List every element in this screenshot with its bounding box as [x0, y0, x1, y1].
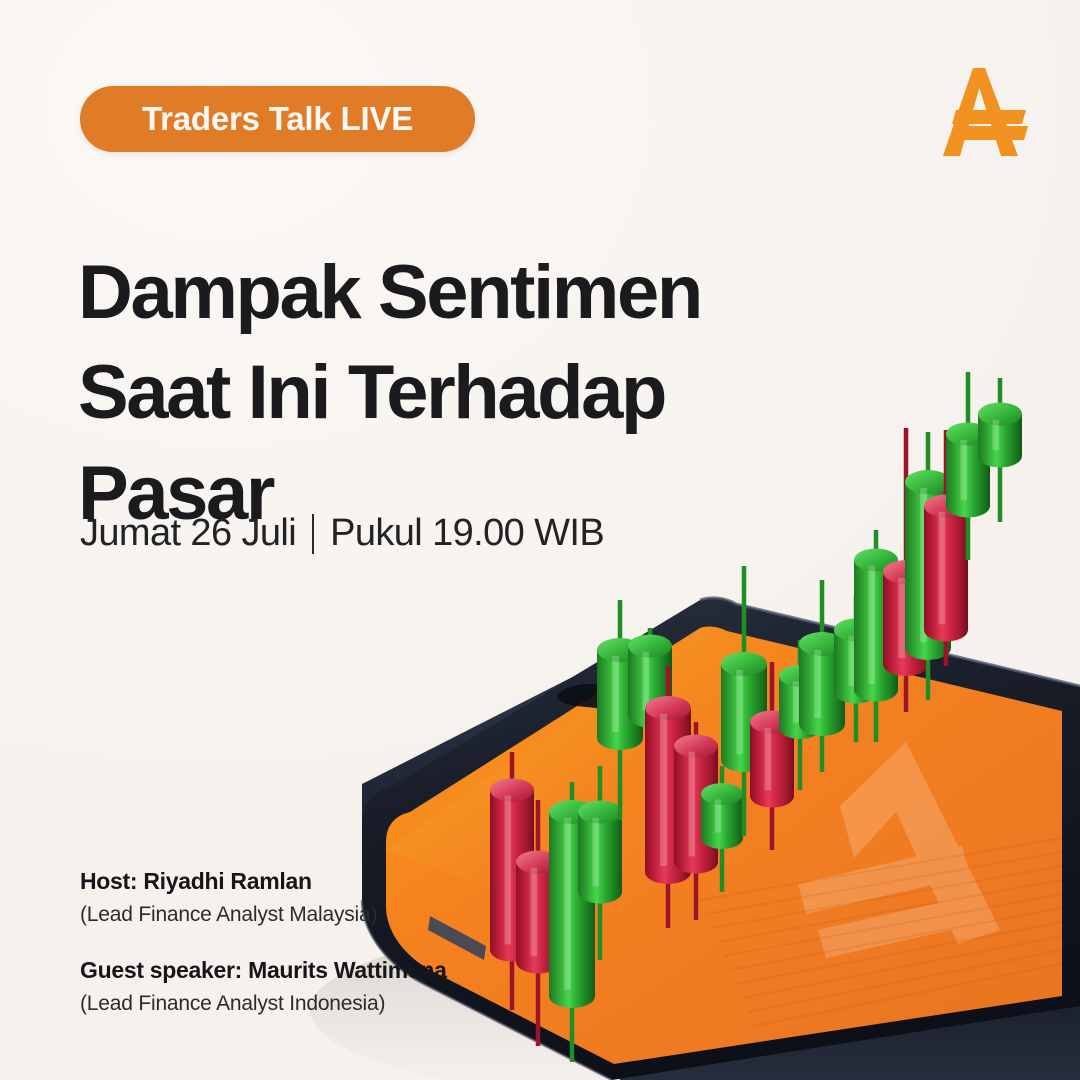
speaker-credits: Host: Riyadhi Ramlan (Lead Finance Analy… — [80, 866, 447, 1045]
host-role: (Lead Finance Analyst Malaysia) — [80, 900, 447, 929]
datetime-separator — [312, 514, 314, 554]
event-date: Jumat 26 Juli — [80, 512, 296, 555]
guest-role: (Lead Finance Analyst Indonesia) — [80, 989, 447, 1018]
event-time: Pukul 19.00 WIB — [330, 512, 604, 555]
host-name: Host: Riyadhi Ramlan — [80, 866, 447, 897]
page-title: Dampak Sentimen Saat Ini Terhadap Pasar — [78, 243, 798, 544]
guest-name: Guest speaker: Maurits Wattimena — [80, 955, 447, 986]
poster-canvas: Traders Talk LIVE Dampak Sentimen Saat I… — [0, 0, 1080, 1080]
live-badge-label: Traders Talk LIVE — [142, 100, 413, 138]
headline-line-1: Dampak Sentimen — [78, 243, 798, 343]
headline-line-2: Saat Ini Terhadap — [78, 343, 798, 443]
guest-block: Guest speaker: Maurits Wattimena (Lead F… — [80, 955, 447, 1018]
event-datetime: Jumat 26 Juli Pukul 19.00 WIB — [80, 512, 604, 555]
host-block: Host: Riyadhi Ramlan (Lead Finance Analy… — [80, 866, 447, 929]
live-badge[interactable]: Traders Talk LIVE — [80, 86, 475, 152]
brand-logo — [930, 62, 1032, 162]
